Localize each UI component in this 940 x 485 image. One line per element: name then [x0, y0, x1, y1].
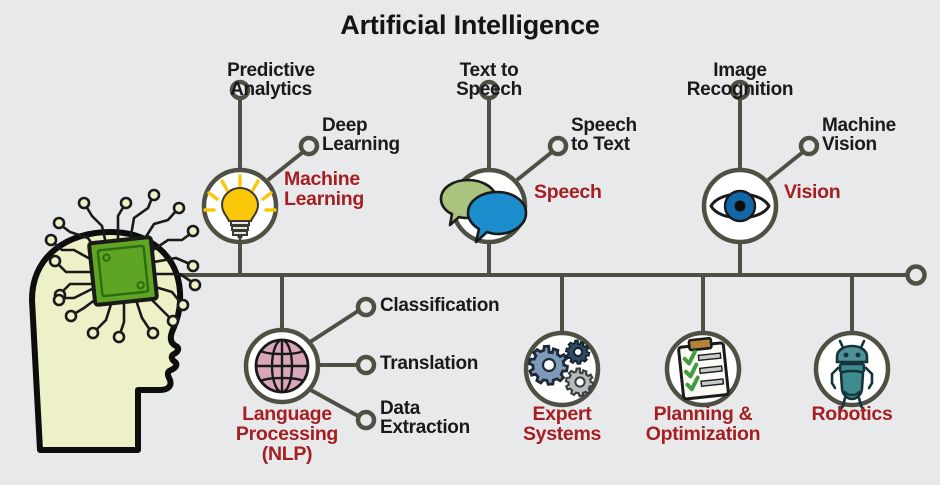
- node-dot-classification: [358, 299, 374, 315]
- label-data-extraction: Data Extraction: [380, 399, 470, 438]
- stem-speech-to-text: [517, 152, 552, 180]
- head-with-microchip-icon: [32, 190, 200, 450]
- label-vision: Vision: [784, 183, 840, 203]
- label-machine-vision: Machine Vision: [822, 116, 896, 155]
- page-title: Artificial Intelligence: [0, 12, 940, 40]
- node-dot-speech-to-text: [550, 138, 566, 154]
- clipboard-checklist-icon: [678, 338, 728, 399]
- branch-circle-machine-learning[interactable]: [204, 170, 276, 242]
- label-planning-optimization: Planning & Optimization: [619, 405, 787, 445]
- open-circle-endpoint: [908, 267, 925, 284]
- branch-circle-vision[interactable]: [704, 170, 776, 242]
- stem-machine-vision: [768, 152, 803, 180]
- node-dot-deep-learning: [301, 138, 317, 154]
- label-robotics: Robotics: [786, 405, 918, 425]
- node-dot-machine-vision: [801, 138, 817, 154]
- label-speech: Speech: [534, 183, 602, 203]
- label-deep-learning: Deep Learning: [322, 116, 400, 155]
- label-classification: Classification: [380, 296, 499, 315]
- infographic-canvas: Artificial Intelligence Predictive Analy…: [0, 0, 940, 485]
- stem-classification: [307, 311, 358, 344]
- label-speech-to-text: Speech to Text: [571, 116, 637, 155]
- branch-circle-robotics[interactable]: [816, 333, 888, 410]
- label-expert-systems: Expert Systems: [492, 405, 632, 445]
- branch-circle-nlp[interactable]: [246, 330, 318, 402]
- label-language-processing-nlp: Language Processing (NLP): [216, 405, 358, 465]
- node-dot-translation: [358, 357, 374, 373]
- globe-icon: [256, 340, 308, 392]
- label-machine-learning: Machine Learning: [284, 170, 364, 210]
- label-translation: Translation: [380, 354, 478, 373]
- label-text-to-speech: Text to Speech: [441, 61, 537, 100]
- node-dot-data-extraction: [358, 412, 374, 428]
- branch-circle-speech[interactable]: [441, 170, 526, 242]
- branch-circle-expert-systems[interactable]: [526, 333, 598, 405]
- label-predictive-analytics: Predictive Analytics: [188, 61, 354, 100]
- branch-circle-planning-optimization[interactable]: [667, 333, 739, 405]
- label-image-recognition: Image Recognition: [676, 61, 804, 100]
